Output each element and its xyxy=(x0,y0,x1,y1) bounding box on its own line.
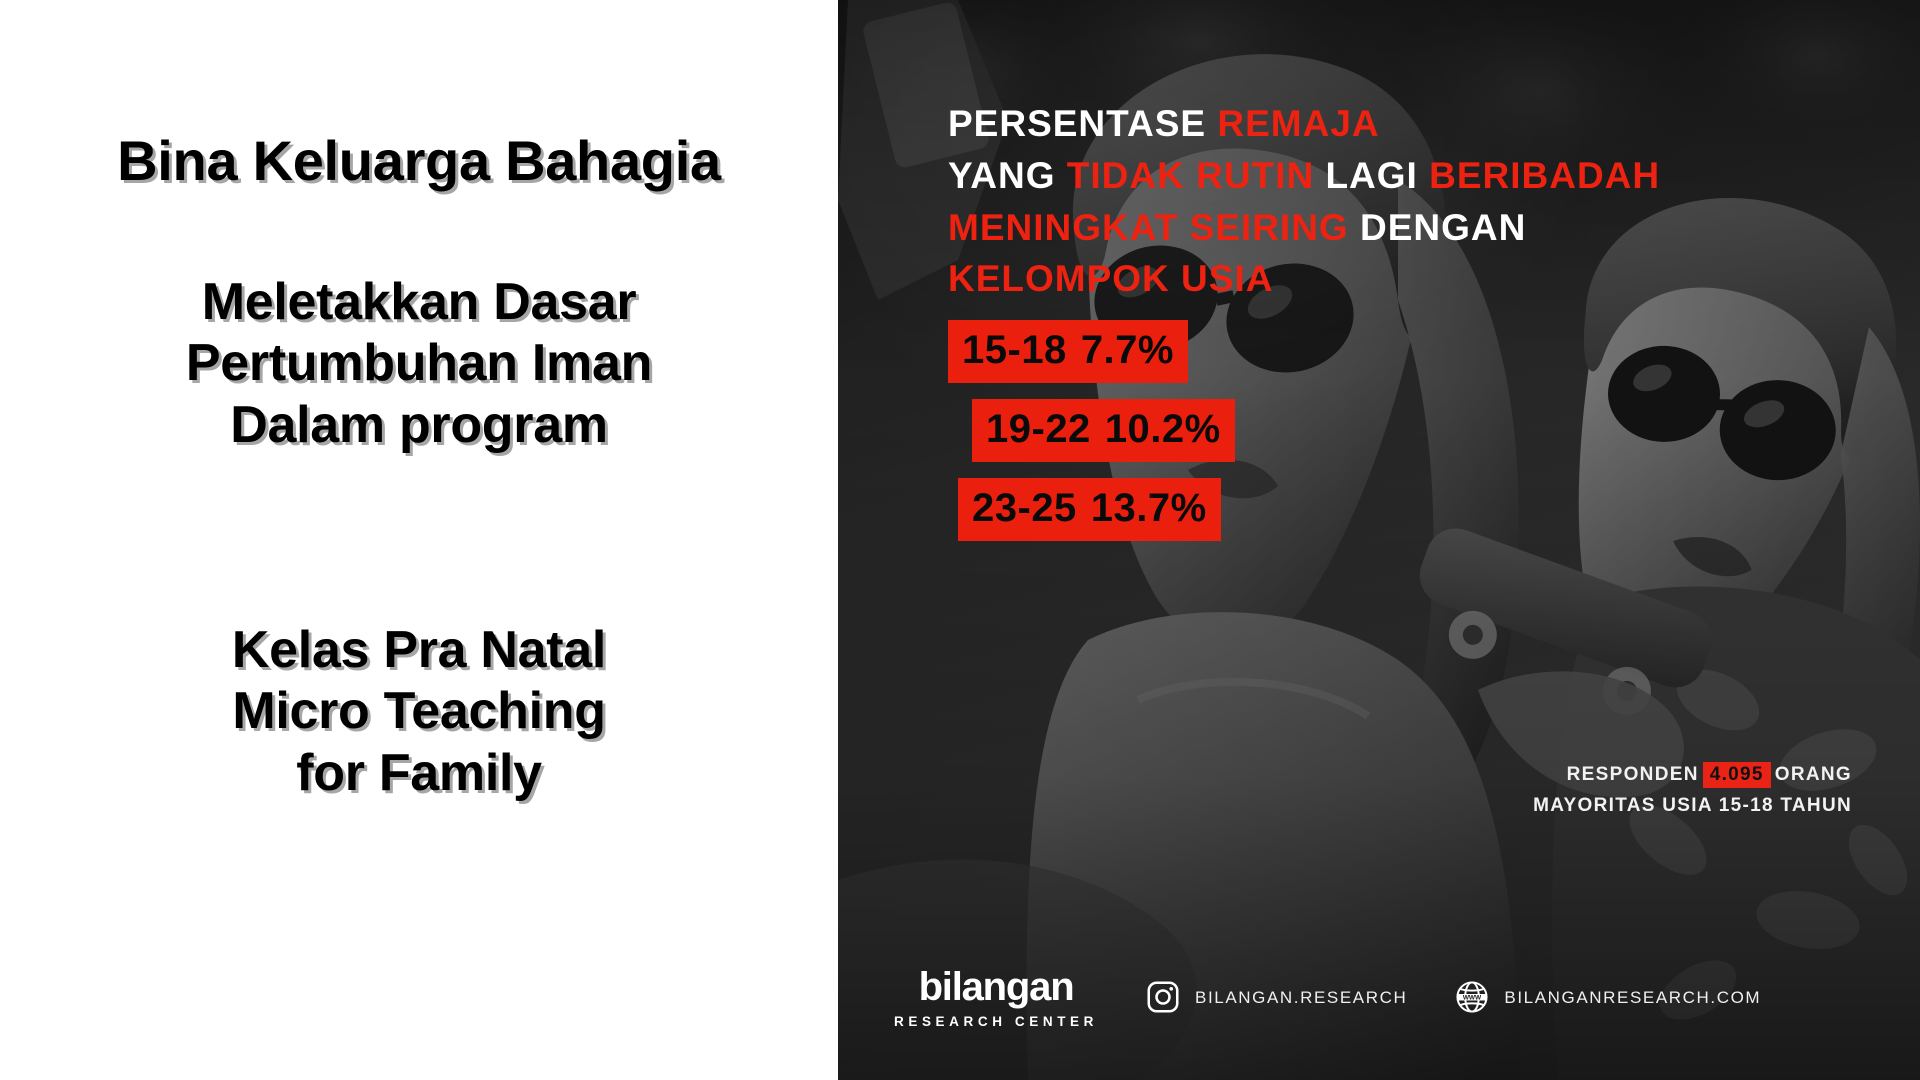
class-title: Kelas Pra Natal Micro Teaching for Famil… xyxy=(0,620,838,804)
headline-line-1: PERSENTASE REMAJA xyxy=(948,98,1888,150)
respondent-prefix: RESPONDEN xyxy=(1567,764,1699,785)
class-title-line-2: Micro Teaching xyxy=(0,681,838,742)
headline-line-3: MENINGKAT SEIRING DENGAN xyxy=(948,202,1888,254)
headline-line-4: KELOMPOK USIA xyxy=(948,253,1888,305)
headline: PERSENTASE REMAJA YANG TIDAK RUTIN LAGI … xyxy=(948,98,1888,305)
headline-word-meningkat-seiring: MENINGKAT SEIRING xyxy=(948,207,1349,248)
program-subtitle-line-1: Meletakkan Dasar xyxy=(0,272,838,333)
headline-word-persentase: PERSENTASE xyxy=(948,103,1206,144)
program-subtitle: Meletakkan Dasar Pertumbuhan Iman Dalam … xyxy=(0,272,838,456)
program-subtitle-line-2: Pertumbuhan Iman xyxy=(0,333,838,394)
headline-word-lagi: LAGI xyxy=(1325,155,1417,196)
instagram-link[interactable]: BILANGAN.RESEARCH xyxy=(1144,978,1407,1016)
infographic-panel: PERSENTASE REMAJA YANG TIDAK RUTIN LAGI … xyxy=(838,0,1920,1080)
program-title-line-1: Bina Keluarga Bahagia xyxy=(0,128,838,194)
respondent-line-1: RESPONDEN4.095ORANG xyxy=(1533,760,1852,791)
respondent-count: 4.095 xyxy=(1703,762,1771,788)
program-subtitle-line-3: Dalam program xyxy=(0,395,838,456)
stat-chip-15-18: 15-187.7% xyxy=(948,320,1188,383)
stat-row: 15-187.7% xyxy=(948,320,1548,383)
class-title-line-3: for Family xyxy=(0,743,838,804)
headline-word-tidak-rutin: TIDAK RUTIN xyxy=(1067,155,1314,196)
respondent-suffix: ORANG xyxy=(1775,764,1852,785)
globe-www-icon: WWW xyxy=(1453,978,1491,1016)
website-url: BILANGANRESEARCH.COM xyxy=(1504,989,1761,1006)
stat-chip-19-22: 19-2210.2% xyxy=(972,399,1235,462)
brand-tagline: RESEARCH CENTER xyxy=(894,1015,1098,1029)
headline-word-beribadah: BERIBADAH xyxy=(1429,155,1660,196)
website-link[interactable]: WWW BILANGANRESEARCH.COM xyxy=(1453,978,1761,1016)
stat-age-range-0: 15-18 xyxy=(962,328,1067,372)
instagram-icon xyxy=(1144,978,1182,1016)
headline-word-kelompok-usia: KELOMPOK USIA xyxy=(948,258,1273,299)
respondent-note: RESPONDEN4.095ORANG MAYORITAS USIA 15-18… xyxy=(1533,760,1852,822)
slide-root: Bina Keluarga Bahagia Meletakkan Dasar P… xyxy=(0,0,1920,1080)
left-text-panel: Bina Keluarga Bahagia Meletakkan Dasar P… xyxy=(0,0,838,1080)
stat-value-0: 7.7% xyxy=(1081,328,1174,372)
stat-value-1: 10.2% xyxy=(1105,407,1221,451)
program-title: Bina Keluarga Bahagia xyxy=(0,128,838,194)
stat-row: 23-2513.7% xyxy=(948,478,1548,541)
brand-name: bilangan xyxy=(919,967,1074,1007)
instagram-handle: BILANGAN.RESEARCH xyxy=(1195,989,1407,1006)
stat-age-range-1: 19-22 xyxy=(986,407,1091,451)
stat-chip-23-25: 23-2513.7% xyxy=(958,478,1221,541)
stat-value-2: 13.7% xyxy=(1091,486,1207,530)
headline-word-dengan: DENGAN xyxy=(1360,207,1526,248)
footer-bar: bilangan RESEARCH CENTER BILANGAN.RESEAR… xyxy=(894,967,1761,1029)
brand-logo: bilangan RESEARCH CENTER xyxy=(894,967,1098,1029)
headline-line-2: YANG TIDAK RUTIN LAGI BERIBADAH xyxy=(948,150,1888,202)
headline-word-remaja: REMAJA xyxy=(1217,103,1379,144)
class-title-line-1: Kelas Pra Natal xyxy=(0,620,838,681)
stat-row: 19-2210.2% xyxy=(948,399,1548,462)
headline-word-yang: YANG xyxy=(948,155,1056,196)
respondent-line-2: MAYORITAS USIA 15-18 TAHUN xyxy=(1533,791,1852,822)
age-group-stat-bars: 15-187.7% 19-2210.2% 23-2513.7% xyxy=(948,320,1548,557)
stat-age-range-2: 23-25 xyxy=(972,486,1077,530)
svg-text:WWW: WWW xyxy=(1463,995,1482,1002)
